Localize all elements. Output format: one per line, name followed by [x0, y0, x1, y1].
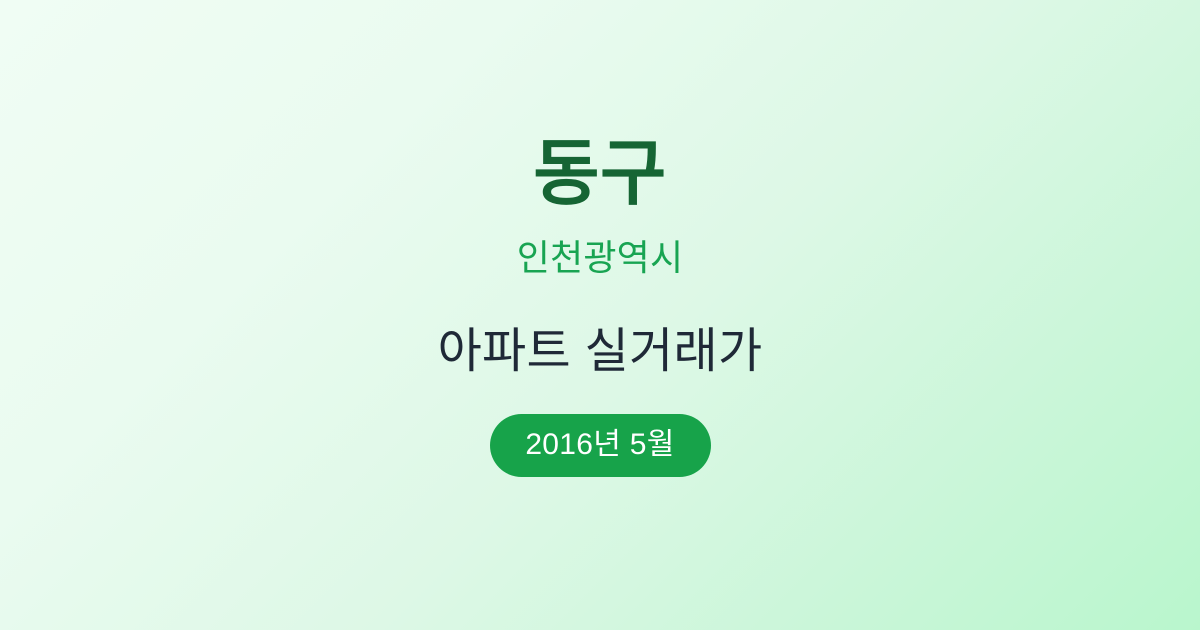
page-title: 아파트 실거래가 [438, 328, 763, 376]
content-stack: 동구 인천광역시 아파트 실거래가 2016년 5월 [0, 138, 1200, 477]
region-name: 동구 [533, 138, 666, 210]
region-parent-name: 인천광역시 [517, 240, 684, 276]
period-badge[interactable]: 2016년 5월 [490, 414, 711, 477]
og-card: 동구 인천광역시 아파트 실거래가 2016년 5월 [0, 0, 1200, 630]
